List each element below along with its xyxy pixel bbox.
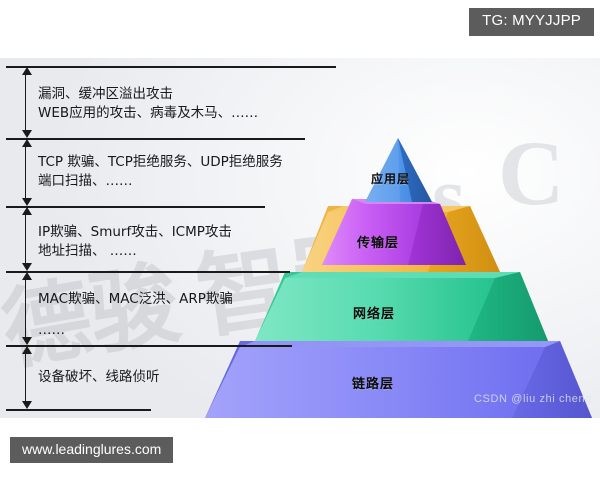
attack-row-physical: 设备破坏、线路侦听 <box>38 368 160 387</box>
attack-row-link: MAC欺骗、MAC泛洪、ARP欺骗 …… <box>38 290 233 340</box>
attack-row-network-line-2: 地址扫描、 …… <box>38 242 232 261</box>
divider-line-4 <box>6 271 290 273</box>
attack-row-transport-line-1: TCP 欺骗、TCP拒绝服务、UDP拒绝服务 <box>38 153 283 172</box>
range-arrow-physical <box>25 353 26 402</box>
tg-badge: TG: MYYJJPP <box>469 8 594 36</box>
attack-row-link-line-1: MAC欺骗、MAC泛洪、ARP欺骗 <box>38 290 233 309</box>
pyramid-label-network: 网络层 <box>353 303 395 322</box>
attack-row-application-line-1: 漏洞、缓冲区溢出攻击 <box>38 85 258 104</box>
range-arrow-network <box>25 214 26 264</box>
attack-row-application-line-2: WEB应用的攻击、病毒及木马、…… <box>38 104 258 123</box>
range-arrow-transport <box>25 146 26 199</box>
divider-line-1 <box>6 66 336 68</box>
range-arrow-application <box>25 74 26 131</box>
pyramid-label-application: 应用层 <box>371 170 410 187</box>
attack-row-physical-line-1: 设备破坏、线路侦听 <box>38 368 160 387</box>
attack-row-application: 漏洞、缓冲区溢出攻击 WEB应用的攻击、病毒及木马、…… <box>38 85 258 123</box>
divider-line-3 <box>6 206 265 208</box>
attack-row-link-line-2: …… <box>38 321 233 340</box>
range-arrow-link <box>25 279 26 338</box>
divider-line-6 <box>6 409 151 411</box>
divider-line-2 <box>6 138 305 140</box>
attack-text-column: 漏洞、缓冲区溢出攻击 WEB应用的攻击、病毒及木马、…… TCP 欺骗、TCP拒… <box>0 58 345 418</box>
slide-canvas: 德 骏 智 安 s C <box>0 58 600 418</box>
pyramid-label-transport: 传输层 <box>357 232 399 251</box>
attack-row-network-line-1: IP欺骗、Smurf攻击、ICMP攻击 <box>38 223 232 242</box>
attack-row-transport: TCP 欺骗、TCP拒绝服务、UDP拒绝服务 端口扫描、…… <box>38 153 283 191</box>
attack-row-network: IP欺骗、Smurf攻击、ICMP攻击 地址扫描、 …… <box>38 223 232 261</box>
url-badge: www.leadinglures.com <box>10 437 173 463</box>
divider-line-5 <box>6 345 292 347</box>
attack-row-transport-line-2: 端口扫描、…… <box>38 172 283 191</box>
pyramid-label-link: 链路层 <box>352 373 394 392</box>
